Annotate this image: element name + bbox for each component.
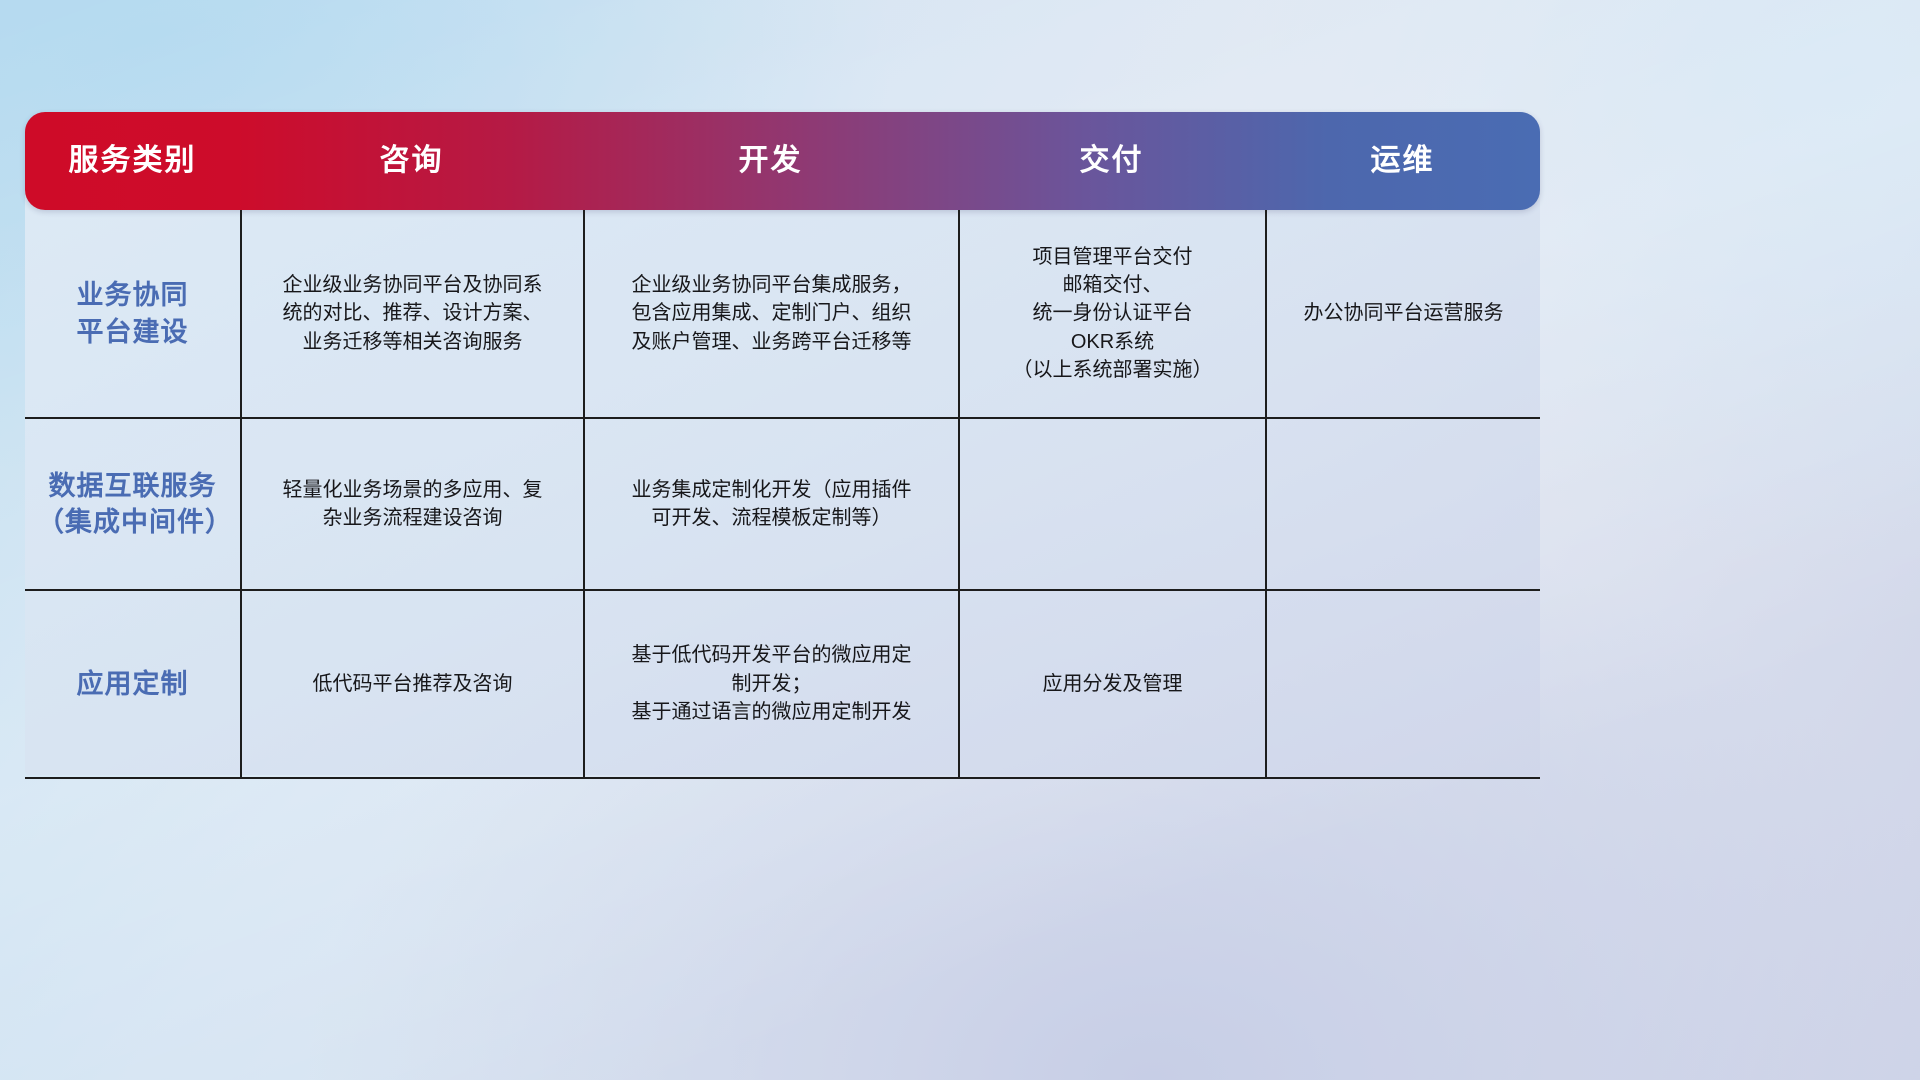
row-category-label: 业务协同 平台建设 [25, 210, 240, 417]
cell-development: 基于低代码开发平台的微应用定 制开发； 基于通过语言的微应用定制开发 [583, 591, 958, 777]
cell-delivery [958, 419, 1265, 589]
cell-consulting: 低代码平台推荐及咨询 [240, 591, 583, 777]
row-category-label: 数据互联服务 （集成中间件） [25, 419, 240, 589]
cell-operations [1265, 419, 1540, 589]
cell-operations [1265, 591, 1540, 777]
column-header-development: 开发 [583, 146, 958, 176]
cell-delivery: 应用分发及管理 [958, 591, 1265, 777]
service-matrix-table: 服务类别 咨询 开发 交付 运维 业务协同 平台建设 企业级业务协同平台及协同系… [25, 112, 1540, 775]
cell-consulting: 企业级业务协同平台及协同系 统的对比、推荐、设计方案、 业务迁移等相关咨询服务 [240, 210, 583, 417]
table-row: 应用定制 低代码平台推荐及咨询 基于低代码开发平台的微应用定 制开发； 基于通过… [25, 589, 1540, 777]
cell-delivery: 项目管理平台交付 邮箱交付、 统一身份认证平台 OKR系统 （以上系统部署实施） [958, 210, 1265, 417]
cell-development: 企业级业务协同平台集成服务， 包含应用集成、定制门户、组织 及账户管理、业务跨平… [583, 210, 958, 417]
column-header-delivery: 交付 [958, 146, 1265, 176]
table-body: 业务协同 平台建设 企业级业务协同平台及协同系 统的对比、推荐、设计方案、 业务… [25, 210, 1540, 779]
cell-development: 业务集成定制化开发（应用插件 可开发、流程模板定制等） [583, 419, 958, 589]
row-category-label: 应用定制 [25, 591, 240, 777]
cell-consulting: 轻量化业务场景的多应用、复 杂业务流程建设咨询 [240, 419, 583, 589]
table-header-row: 服务类别 咨询 开发 交付 运维 [25, 112, 1540, 210]
column-header-operations: 运维 [1265, 146, 1540, 176]
table-row: 数据互联服务 （集成中间件） 轻量化业务场景的多应用、复 杂业务流程建设咨询 业… [25, 417, 1540, 589]
column-header-category: 服务类别 [25, 146, 240, 176]
table-row: 业务协同 平台建设 企业级业务协同平台及协同系 统的对比、推荐、设计方案、 业务… [25, 210, 1540, 417]
column-header-consulting: 咨询 [240, 146, 583, 176]
cell-operations: 办公协同平台运营服务 [1265, 210, 1540, 417]
